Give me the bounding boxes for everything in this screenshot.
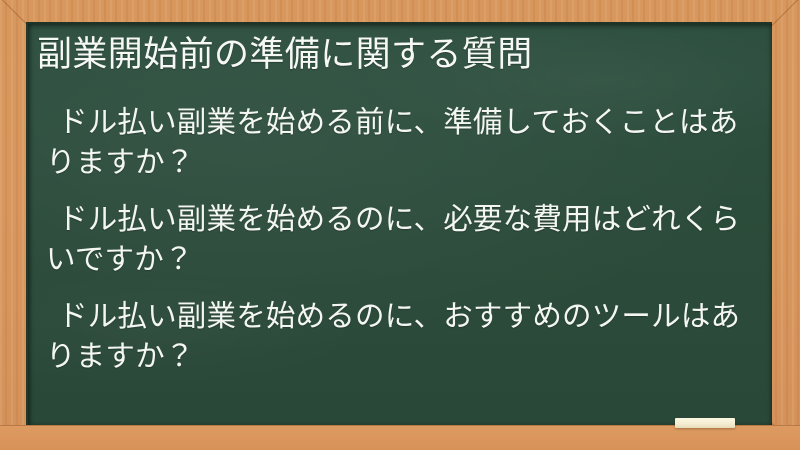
blackboard-slide: 副業開始前の準備に関する質問 ドル払い副業を始める前に、準備しておくことはありま… — [0, 0, 800, 450]
question-list: ドル払い副業を始める前に、準備しておくことはありますか？ ドル払い副業を始めるの… — [46, 102, 752, 393]
chalk-ledge — [0, 425, 800, 450]
list-item: ドル払い副業を始めるのに、おすすめのツールはありますか？ — [46, 296, 752, 376]
chalk-stick-icon — [675, 418, 735, 428]
list-item: ドル払い副業を始める前に、準備しておくことはありますか？ — [46, 102, 752, 182]
page-title: 副業開始前の準備に関する質問 — [37, 32, 758, 78]
list-item: ドル払い副業を始めるのに、必要な費用はどれくらいですか？ — [46, 199, 752, 279]
chalkboard-surface: 副業開始前の準備に関する質問 ドル払い副業を始める前に、準備しておくことはありま… — [26, 22, 772, 427]
